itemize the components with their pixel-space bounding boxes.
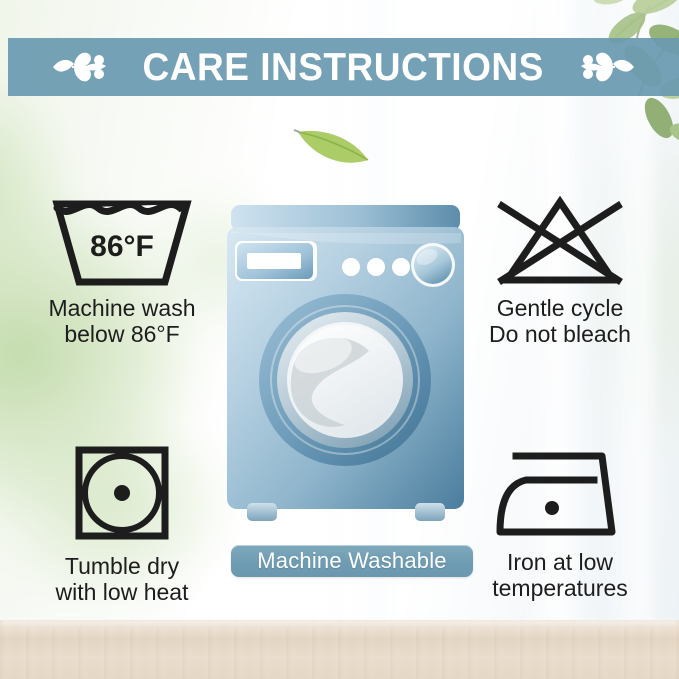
wash-temperature-value: 86°F — [90, 230, 154, 263]
machine-washable-badge: Machine Washable — [231, 545, 473, 577]
washing-machine-illustration — [223, 203, 468, 533]
care-symbol-caption-iron: Iron at low temperatures — [492, 550, 628, 602]
wash-tub-icon: 86°F — [47, 190, 197, 290]
wooden-table-edge — [0, 620, 679, 629]
do-not-bleach-triangle-icon — [485, 190, 635, 290]
header-banner: CARE INSTRUCTIONS — [8, 38, 679, 96]
program-knob — [411, 243, 455, 287]
fleur-de-lis-icon-left — [50, 47, 110, 87]
care-symbol-do-not-bleach: Gentle cycle Do not bleach — [448, 190, 672, 348]
care-symbol-caption-do-not-bleach: Gentle cycle Do not bleach — [489, 296, 631, 348]
tumble-dry-low-icon — [67, 440, 177, 548]
care-symbol-caption-tumble-dry: Tumble dry with low heat — [56, 554, 189, 606]
care-symbol-tumble-dry: Tumble dry with low heat — [12, 440, 232, 606]
care-symbol-machine-wash: 86°F Machine wash below 86°F — [12, 190, 232, 348]
indicator-dots — [342, 258, 410, 276]
detergent-drawer — [235, 241, 317, 281]
machine-door — [259, 294, 431, 466]
machine-washable-label: Machine Washable — [257, 550, 446, 572]
care-symbol-caption-machine-wash: Machine wash below 86°F — [48, 296, 195, 348]
machine-foot-left — [247, 503, 277, 521]
iron-low-temperature-icon — [490, 440, 630, 544]
care-symbol-iron: Iron at low temperatures — [448, 440, 672, 602]
fleur-de-lis-icon-right — [577, 47, 637, 87]
machine-foot-right — [415, 503, 445, 521]
care-instructions-infographic: CARE INSTRUCTIONS 86°F Machine wash belo… — [0, 0, 679, 679]
page-title: CARE INSTRUCTIONS — [143, 48, 544, 87]
